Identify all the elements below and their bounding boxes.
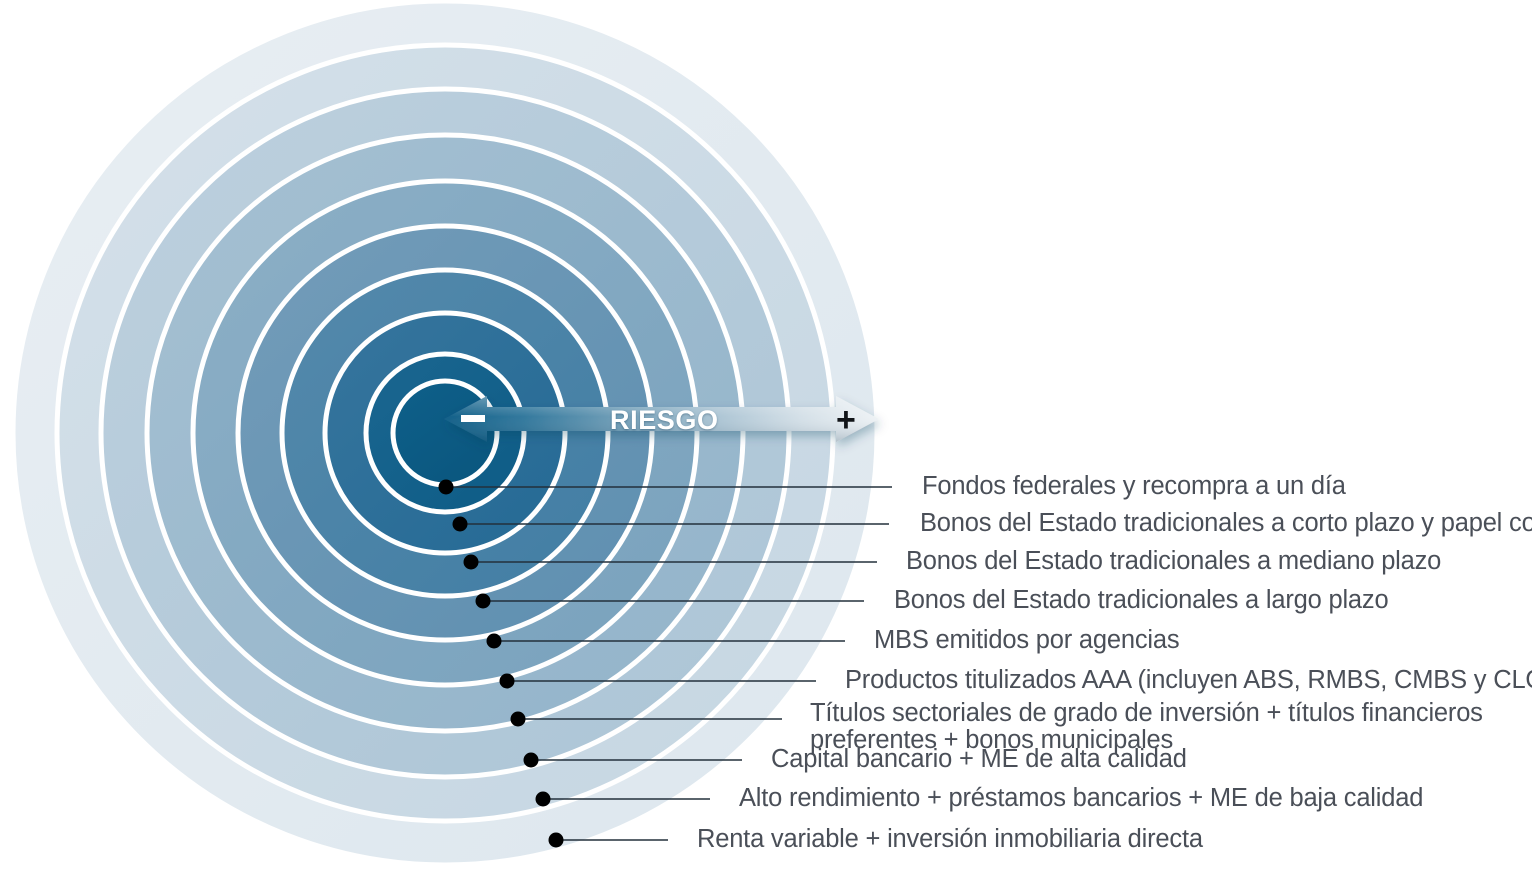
leader-dot	[500, 674, 515, 689]
category-label-1: Fondos federales y recompra a un día	[922, 472, 1346, 501]
leader-dot	[511, 712, 526, 727]
category-label-3: Bonos del Estado tradicionales a mediano…	[906, 547, 1441, 576]
leader-dot	[524, 753, 539, 768]
risk-spectrum-diagram: RIESGO + Fondos federales y recompra a u…	[0, 0, 1532, 880]
category-label-5: MBS emitidos por agencias	[874, 626, 1179, 655]
leader-dot	[453, 517, 468, 532]
plus-icon: +	[836, 403, 856, 437]
leader-dot	[464, 555, 479, 570]
risk-axis-label: RIESGO	[610, 405, 719, 436]
leader-dot	[536, 792, 551, 807]
leader-dot	[439, 480, 454, 495]
leader-dot	[476, 594, 491, 609]
category-label-9: Alto rendimiento + préstamos bancarios +…	[739, 784, 1423, 813]
category-label-10: Renta variable + inversión inmobiliaria …	[697, 825, 1203, 854]
category-label-2: Bonos del Estado tradicionales a corto p…	[920, 509, 1532, 538]
category-label-4: Bonos del Estado tradicionales a largo p…	[894, 586, 1388, 615]
category-label-6: Productos titulizados AAA (incluyen ABS,…	[845, 666, 1532, 695]
category-label-8: Capital bancario + ME de alta calidad	[771, 745, 1187, 774]
leader-dot	[549, 833, 564, 848]
minus-icon	[461, 415, 485, 422]
leader-dot	[487, 634, 502, 649]
